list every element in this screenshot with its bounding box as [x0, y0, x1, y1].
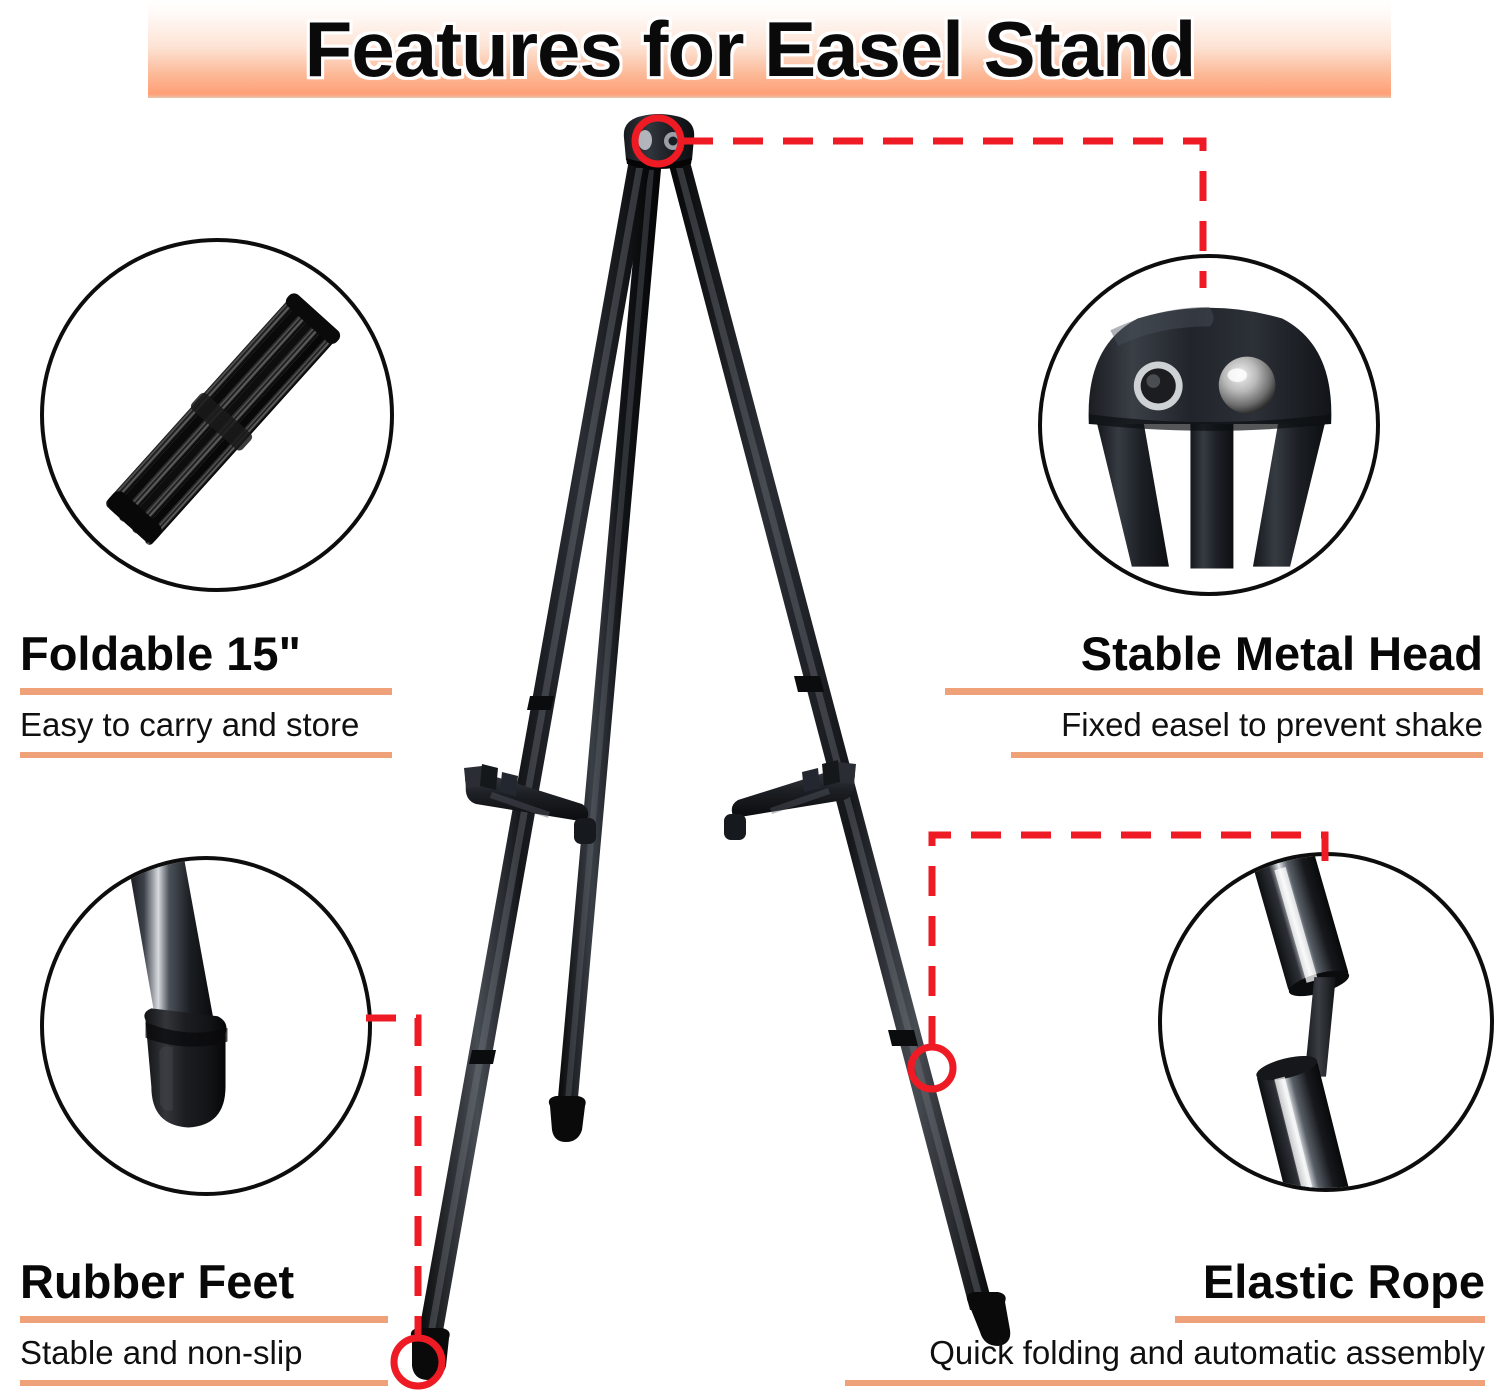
metal-head-photo: [1038, 254, 1380, 596]
feature-rubber-feet-subtitle: Stable and non-slip: [20, 1336, 388, 1371]
folded-rods-photo: [40, 238, 394, 592]
infographic-page: Features for Easel Stand: [0, 0, 1500, 1399]
feature-foldable: Foldable 15" Easy to carry and store: [20, 630, 392, 758]
feature-rubber-feet-title-rule: [20, 1316, 388, 1323]
elastic-rope-photo: [1158, 852, 1494, 1192]
feature-foldable-title-rule: [20, 688, 392, 695]
feature-rubber-feet-title: Rubber Feet: [20, 1258, 388, 1307]
feature-metal-head-sub-rule: [1011, 752, 1483, 758]
feature-rubber-feet-sub-rule: [20, 1380, 388, 1386]
feature-elastic-rope-title-rule: [1175, 1316, 1485, 1323]
feature-metal-head-title-rule: [945, 688, 1483, 695]
feature-metal-head-subtitle: Fixed easel to prevent shake: [945, 708, 1483, 743]
feature-rubber-feet: Rubber Feet Stable and non-slip: [20, 1258, 388, 1386]
feature-metal-head: Stable Metal Head Fixed easel to prevent…: [945, 630, 1483, 758]
feature-elastic-rope-sub-rule: [845, 1380, 1485, 1386]
feature-foldable-title: Foldable 15": [20, 630, 392, 679]
feature-foldable-sub-rule: [20, 752, 392, 758]
page-title: Features for Easel Stand: [0, 0, 1500, 98]
rubber-foot-photo: [40, 856, 372, 1196]
feature-elastic-rope: Elastic Rope Quick folding and automatic…: [845, 1258, 1485, 1386]
feature-foldable-subtitle: Easy to carry and store: [20, 708, 392, 743]
feature-metal-head-title: Stable Metal Head: [945, 630, 1483, 679]
feature-elastic-rope-subtitle: Quick folding and automatic assembly: [845, 1336, 1485, 1371]
feature-elastic-rope-title: Elastic Rope: [845, 1258, 1485, 1307]
